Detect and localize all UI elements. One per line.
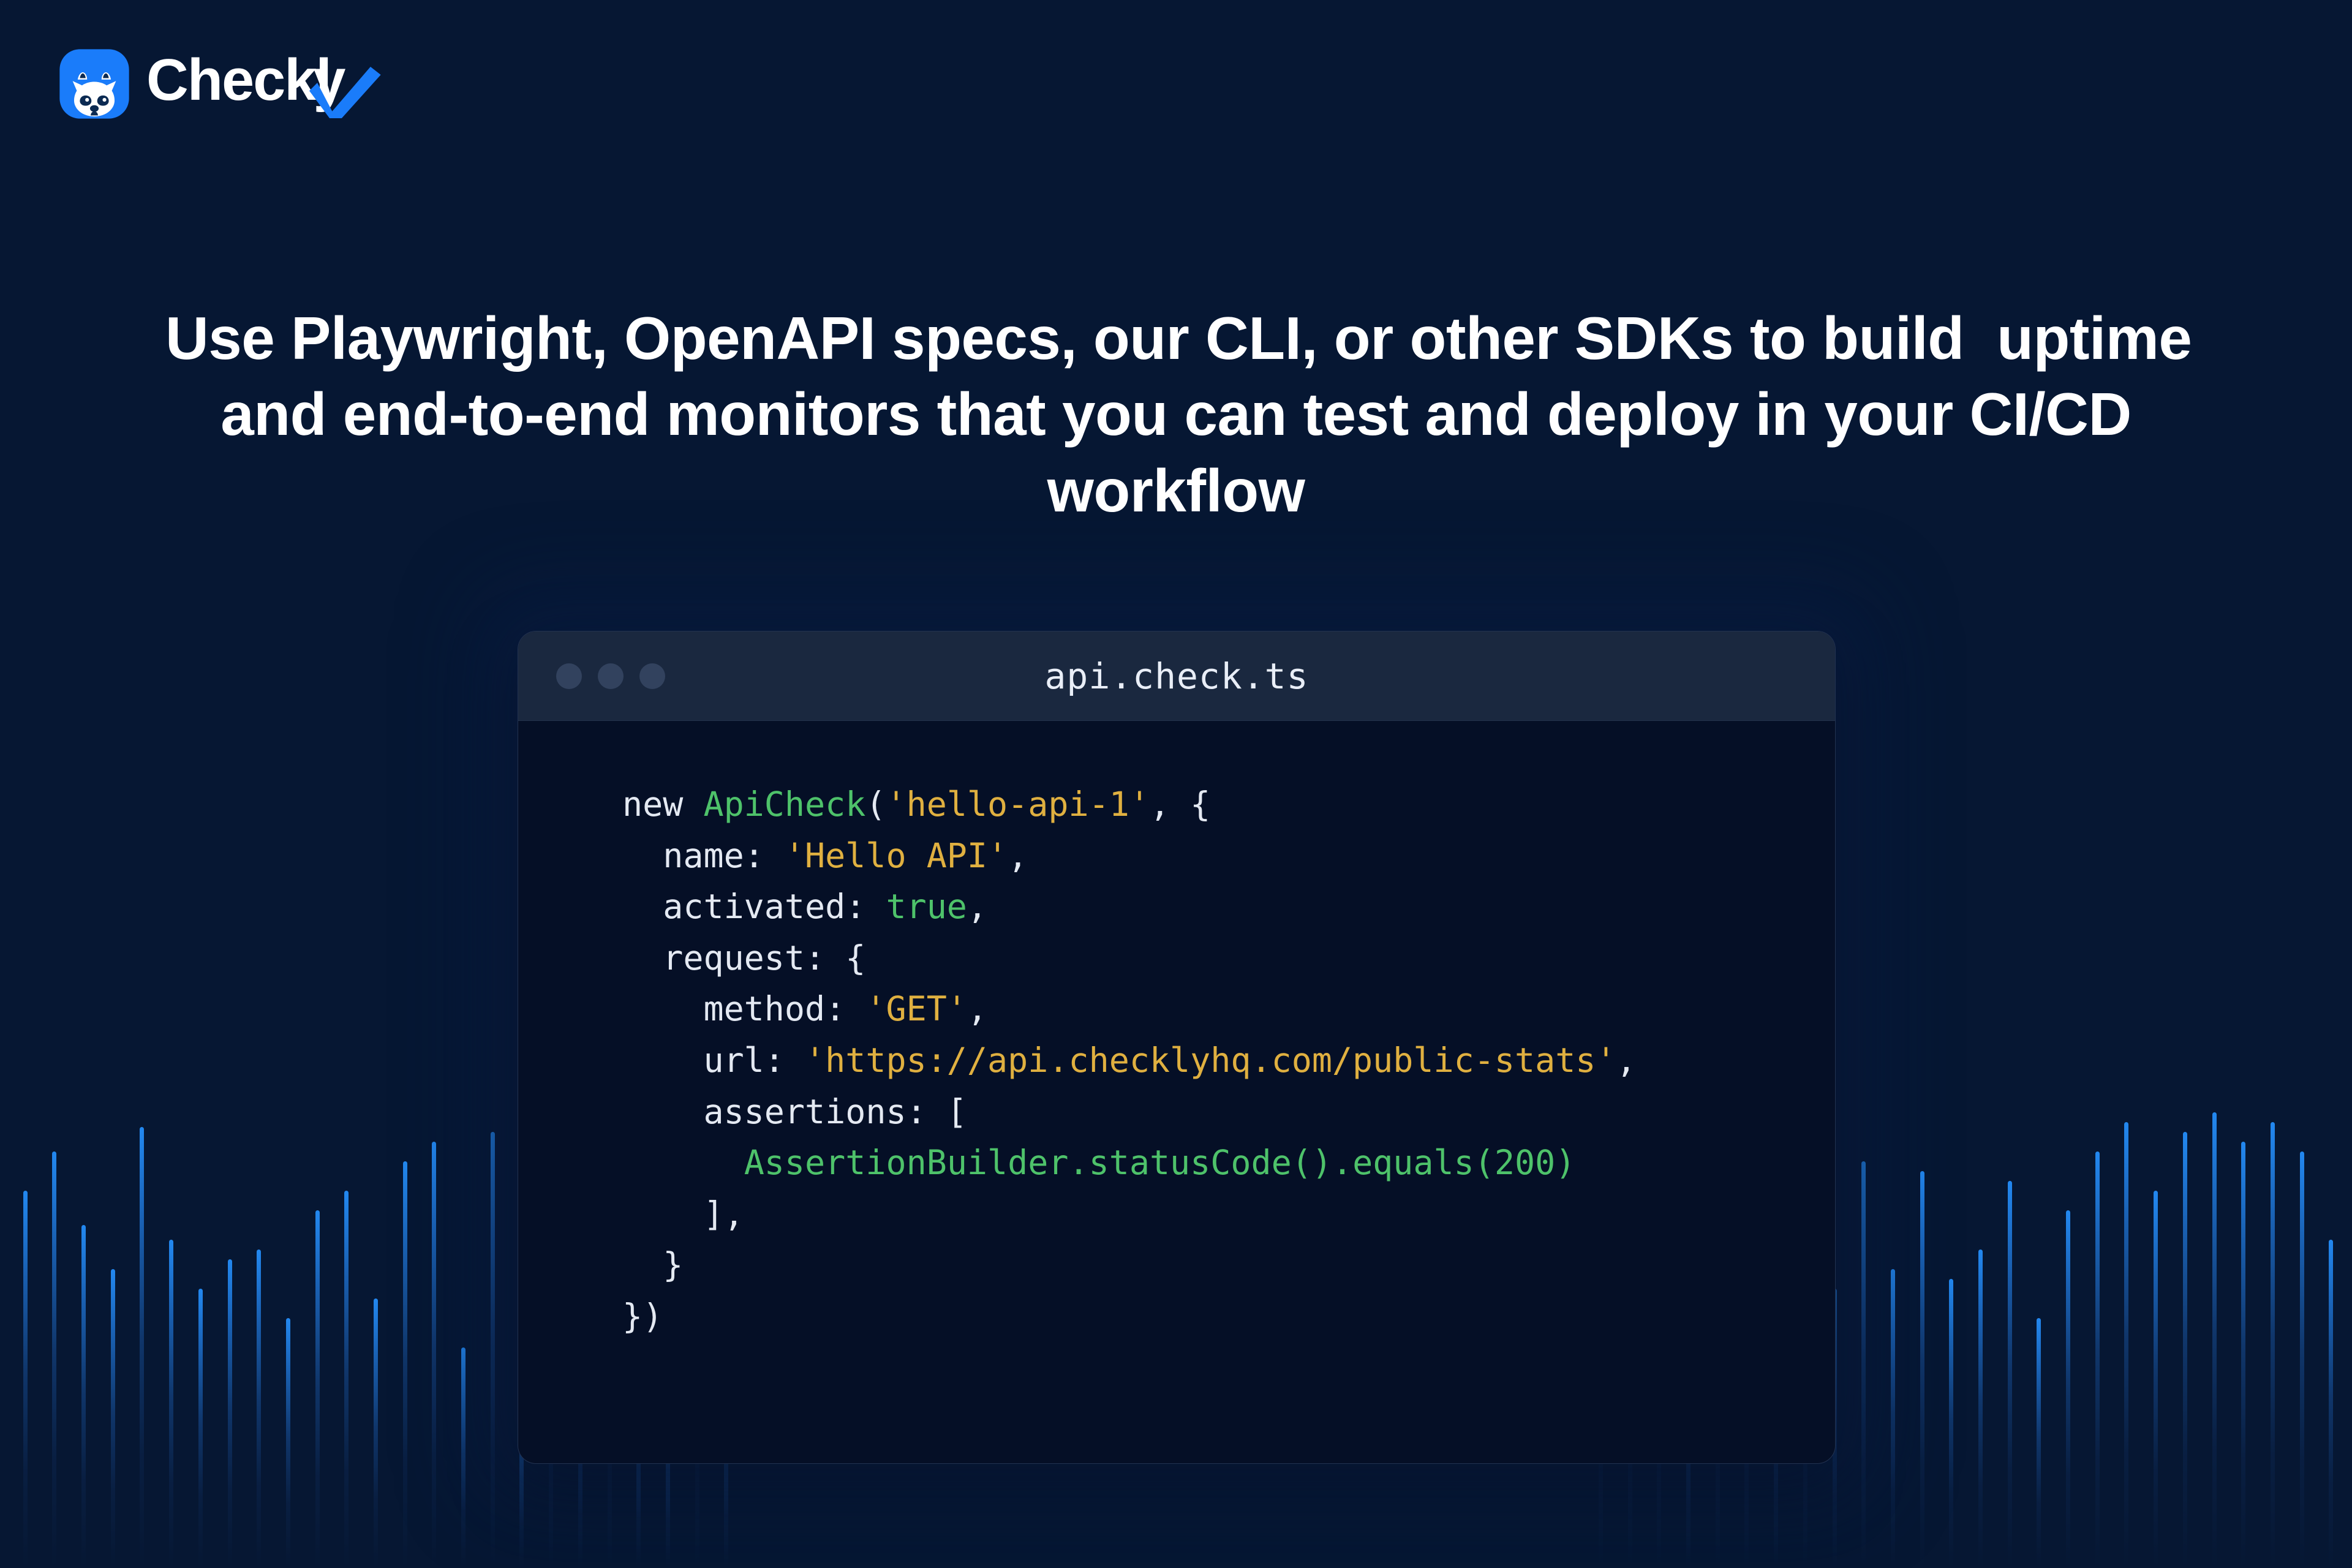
waveform-bar: [52, 1151, 56, 1568]
code-editor-content[interactable]: new ApiCheck('hello-api-1', { name: 'Hel…: [518, 721, 1835, 1343]
waveform-bar: [461, 1347, 466, 1568]
code-token: AssertionBuilder.statusCode().equals(200…: [744, 1143, 1576, 1182]
code-token: assertions: [: [622, 1092, 967, 1131]
checkly-wordmark: Checkl y: [146, 50, 392, 118]
code-token: url:: [622, 1041, 805, 1080]
slide-canvas: Checkl y Use Playwright, OpenAPI specs, …: [0, 0, 2352, 1568]
code-line: name: 'Hello API',: [622, 831, 1835, 882]
waveform-bar: [315, 1210, 320, 1568]
code-window-title-bar: api.check.ts: [518, 631, 1835, 721]
code-line: }): [622, 1291, 1835, 1343]
code-line: AssertionBuilder.statusCode().equals(200…: [622, 1137, 1835, 1189]
waveform-bar: [2037, 1318, 2041, 1568]
code-line: activated: true,: [622, 881, 1835, 933]
code-token: request: {: [622, 938, 865, 978]
waveform-bar: [1920, 1171, 1924, 1568]
waveform-bar: [2095, 1151, 2100, 1568]
waveform-bar: [2183, 1132, 2187, 1568]
code-token: 'GET': [865, 989, 967, 1028]
waveform-bar: [23, 1191, 28, 1568]
waveform-bar: [2300, 1151, 2304, 1568]
code-token: }: [622, 1245, 683, 1284]
code-token: ,: [1008, 836, 1028, 875]
code-token: ,: [967, 887, 987, 926]
code-line: url: 'https://api.checklyhq.com/public-s…: [622, 1035, 1835, 1087]
code-token: ,: [967, 989, 987, 1028]
checkly-logo[interactable]: Checkl y: [58, 48, 392, 120]
code-token: 'Hello API': [785, 836, 1008, 875]
waveform-bar: [2154, 1191, 2158, 1568]
waveform-bar: [111, 1269, 115, 1568]
code-token: ],: [622, 1194, 744, 1234]
code-token: new: [622, 785, 703, 824]
waveform-bar: [169, 1240, 173, 1568]
code-line: request: {: [622, 933, 1835, 984]
code-token: (: [865, 785, 886, 824]
waveform-bar: [491, 1132, 495, 1568]
code-token: activated:: [622, 887, 886, 926]
code-line: ],: [622, 1189, 1835, 1240]
waveform-bar: [403, 1161, 407, 1568]
code-token: , {: [1150, 785, 1210, 824]
waveform-bar: [432, 1142, 436, 1568]
code-line: assertions: [: [622, 1087, 1835, 1138]
file-name-label: api.check.ts: [518, 655, 1835, 697]
code-token: ApiCheck: [703, 785, 865, 824]
svg-text:Checkl: Checkl: [146, 50, 331, 113]
waveform-bar: [374, 1298, 378, 1568]
page-title: Use Playwright, OpenAPI specs, our CLI, …: [165, 300, 2187, 529]
code-token: 'https://api.checklyhq.com/public-stats': [805, 1041, 1616, 1080]
waveform-bar: [2212, 1112, 2217, 1568]
waveform-bar: [286, 1318, 290, 1568]
waveform-bar: [2066, 1210, 2070, 1568]
waveform-bar: [1978, 1249, 1983, 1568]
waveform-bar: [257, 1249, 261, 1568]
code-line: }: [622, 1240, 1835, 1291]
raccoon-icon: [58, 48, 130, 120]
code-token: true: [886, 887, 967, 926]
code-token: method:: [622, 989, 865, 1028]
waveform-bar: [2124, 1122, 2128, 1568]
waveform-bar: [140, 1127, 144, 1568]
headline-line-2: and end-to-end monitors that you can tes…: [165, 376, 2187, 452]
code-token: 'hello-api-1': [886, 785, 1149, 824]
waveform-bar: [81, 1225, 86, 1568]
waveform-bar: [228, 1259, 232, 1568]
headline-line-3: workflow: [165, 453, 2187, 529]
waveform-bar: [2241, 1142, 2245, 1568]
code-window: api.check.ts new ApiCheck('hello-api-1',…: [518, 631, 1836, 1464]
waveform-bar: [198, 1289, 203, 1568]
code-line: method: 'GET',: [622, 984, 1835, 1035]
waveform-bar: [2271, 1122, 2275, 1568]
headline-line-1: Use Playwright, OpenAPI specs, our CLI, …: [165, 300, 2187, 376]
code-token: [622, 1143, 744, 1182]
waveform-bar: [344, 1191, 349, 1568]
code-token: name:: [622, 836, 785, 875]
waveform-bar: [1949, 1279, 1953, 1568]
code-line: new ApiCheck('hello-api-1', {: [622, 779, 1835, 831]
waveform-bar: [1861, 1161, 1866, 1568]
code-token: ,: [1616, 1041, 1637, 1080]
waveform-bar: [1891, 1269, 1895, 1568]
waveform-bar: [2008, 1181, 2012, 1568]
waveform-bar: [2329, 1240, 2333, 1568]
code-token: }): [622, 1297, 663, 1336]
